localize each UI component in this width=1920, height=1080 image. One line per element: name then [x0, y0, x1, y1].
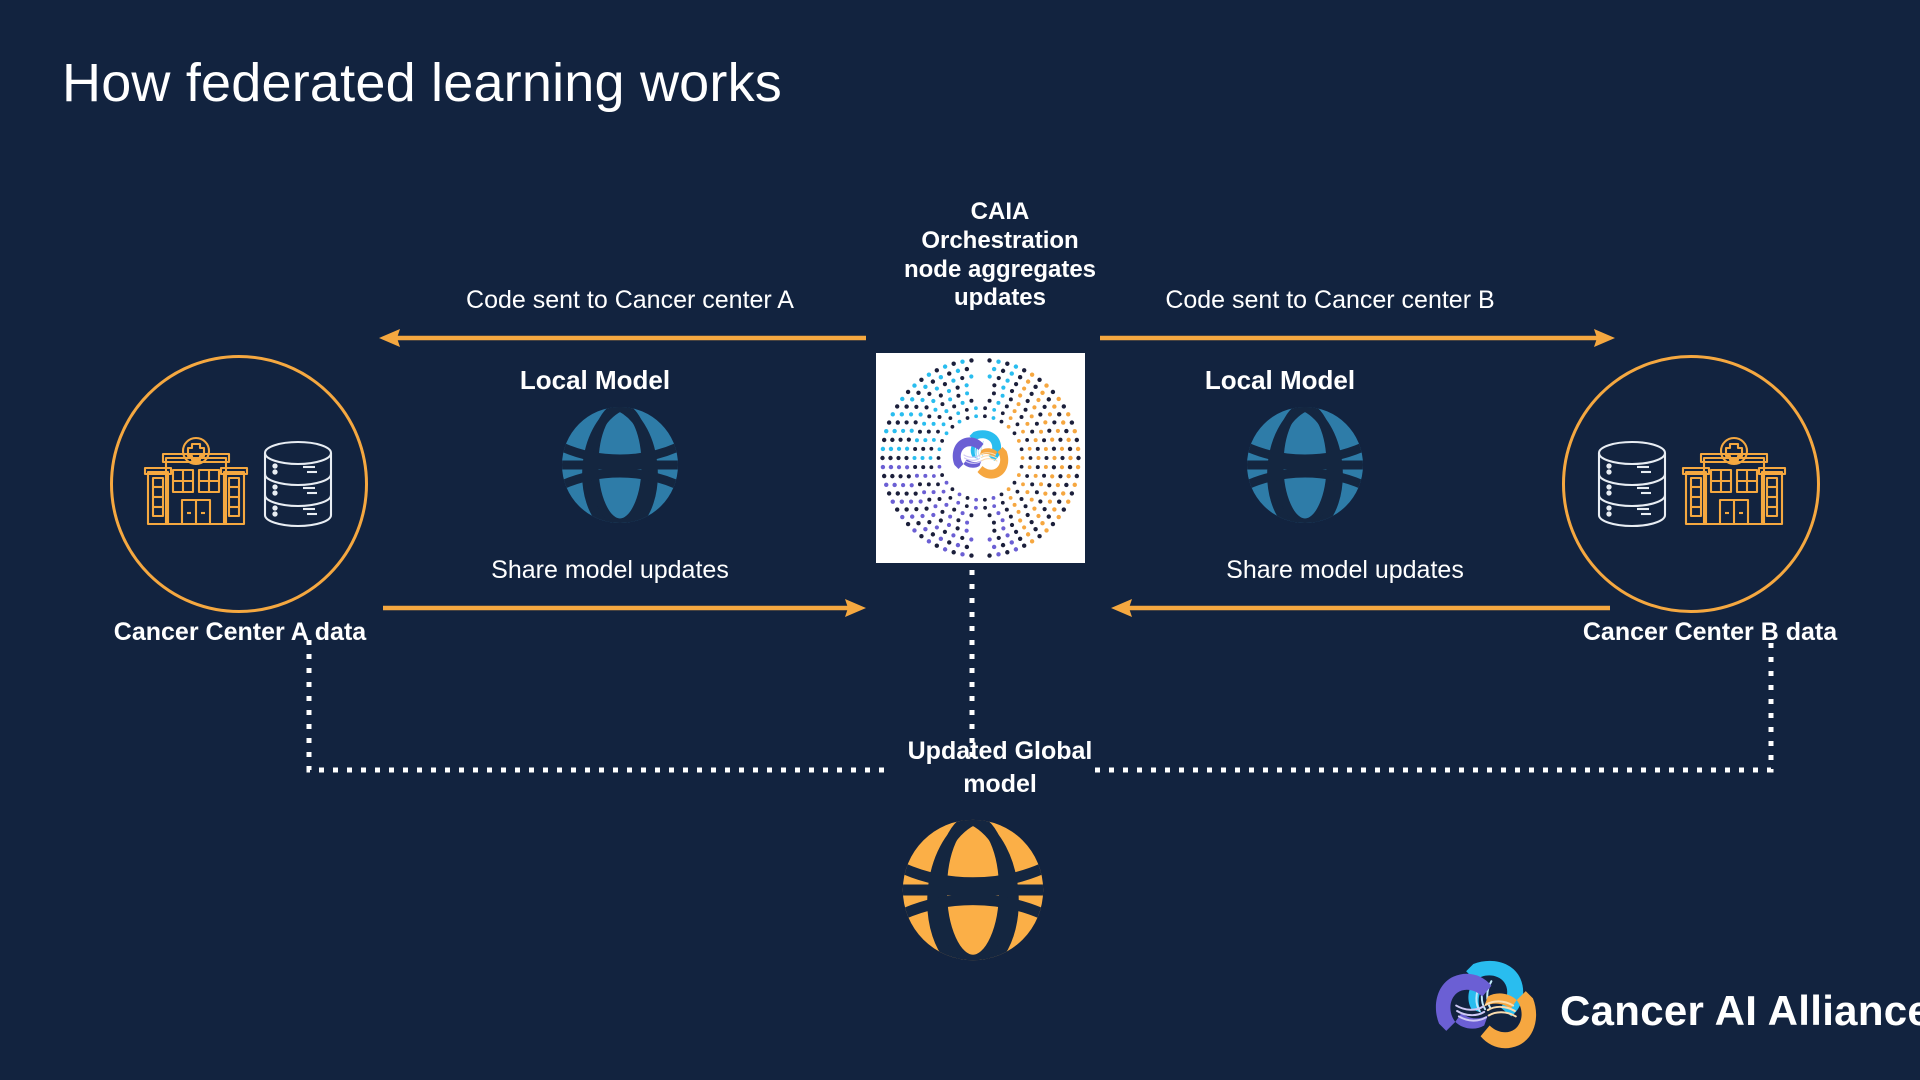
local-model-b-globe-icon: [1243, 403, 1367, 532]
updated-global-model-line-2: model: [855, 768, 1145, 801]
arrow-share-a-label: Share model updates: [340, 556, 880, 585]
caia-hands-logo: [1430, 955, 1542, 1067]
updated-global-model-globe-icon: [898, 815, 1048, 970]
database-icon: [259, 438, 337, 530]
arrow-share-updates-a: [383, 595, 867, 621]
hospital-icon: [1679, 434, 1789, 534]
cancer-center-a-circle[interactable]: [110, 355, 368, 613]
database-icon: [1593, 438, 1671, 530]
caia-orchestration-logo: [876, 353, 1085, 563]
orchestration-heading-line-2: Orchestration: [855, 227, 1145, 256]
brand-logo: Cancer AI Alliance: [1430, 955, 1920, 1067]
arrow-code-to-center-a: [378, 325, 866, 351]
local-model-a-label: Local Model: [505, 365, 685, 396]
slide-canvas: How federated learning works CAIA Orches…: [0, 0, 1920, 1080]
arrow-share-b-label: Share model updates: [1075, 556, 1615, 585]
caia-orchestration-node-card: [876, 353, 1085, 563]
cancer-center-b-icon-group: [1593, 434, 1789, 534]
orchestration-heading-line-1: CAIA: [855, 198, 1145, 227]
cancer-center-a-icon-group: [141, 434, 337, 534]
arrow-code-to-center-b: [1100, 325, 1616, 351]
arrow-share-updates-b: [1110, 595, 1610, 621]
dotted-connector-right: [1095, 640, 1775, 780]
page-title: How federated learning works: [62, 52, 782, 114]
local-model-a-globe-icon: [558, 403, 682, 532]
arrow-code-a-label: Code sent to Cancer center A: [360, 286, 900, 315]
orchestration-heading-line-3: node aggregates: [855, 256, 1145, 285]
hospital-icon: [141, 434, 251, 534]
brand-name: Cancer AI Alliance: [1560, 987, 1920, 1035]
dotted-connector-left: [305, 640, 885, 780]
updated-global-model-line-1: Updated Global: [855, 735, 1145, 768]
arrow-code-b-label: Code sent to Cancer center B: [1060, 286, 1600, 315]
local-model-b-label: Local Model: [1190, 365, 1370, 396]
updated-global-model-label: Updated Global model: [855, 735, 1145, 800]
